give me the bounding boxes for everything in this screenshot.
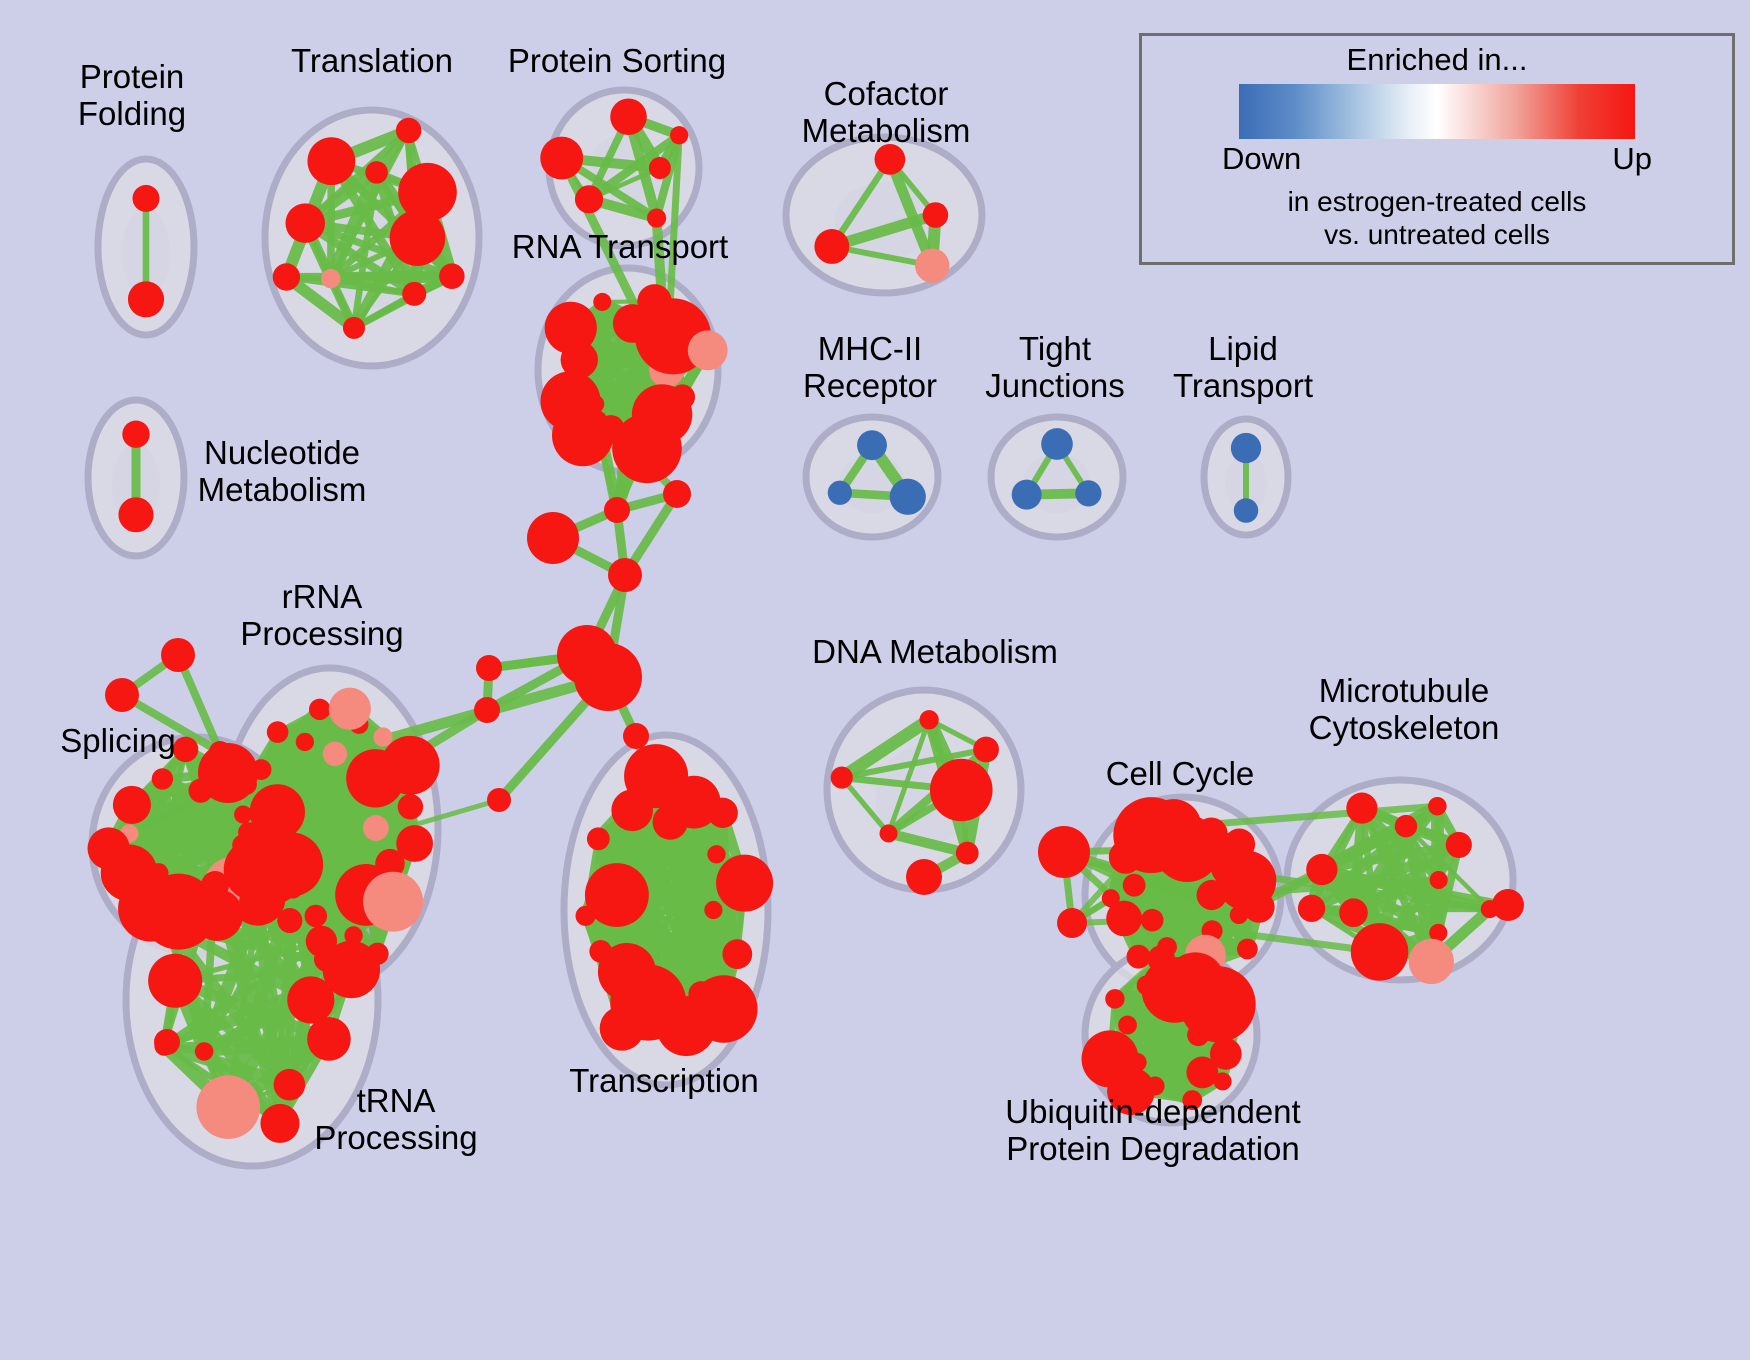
network-node[interactable]	[132, 185, 159, 212]
network-node[interactable]	[1012, 480, 1042, 510]
network-node[interactable]	[589, 940, 612, 963]
legend-caption-line1: in estrogen-treated cells	[1222, 185, 1652, 218]
network-node[interactable]	[637, 284, 671, 318]
network-node[interactable]	[105, 678, 139, 712]
network-node[interactable]	[1234, 498, 1258, 522]
cluster-label-nucleotide-metabolism: Nucleotide Metabolism	[198, 434, 367, 508]
network-node[interactable]	[608, 558, 642, 592]
cluster-label-lipid-transport: Lipid Transport	[1173, 330, 1313, 404]
network-node[interactable]	[1351, 923, 1409, 981]
network-node[interactable]	[267, 721, 289, 743]
network-node[interactable]	[1395, 815, 1417, 837]
network-node[interactable]	[309, 699, 330, 720]
network-node[interactable]	[196, 1075, 260, 1139]
network-node[interactable]	[1346, 792, 1377, 823]
network-node[interactable]	[173, 737, 199, 763]
cluster-label-protein-folding: Protein Folding	[78, 58, 186, 132]
network-node[interactable]	[402, 282, 426, 306]
network-node[interactable]	[323, 742, 347, 766]
network-node[interactable]	[234, 805, 252, 823]
network-node[interactable]	[113, 786, 151, 824]
network-node[interactable]	[1038, 826, 1090, 878]
legend-title: Enriched in...	[1222, 42, 1652, 78]
network-node[interactable]	[343, 317, 365, 339]
network-node[interactable]	[814, 229, 849, 264]
network-node[interactable]	[576, 906, 596, 926]
network-node[interactable]	[1306, 854, 1337, 885]
network-node[interactable]	[274, 1069, 306, 1101]
network-node[interactable]	[201, 871, 229, 899]
network-node[interactable]	[260, 1104, 299, 1143]
network-node[interactable]	[1228, 1009, 1247, 1028]
network-node[interactable]	[1122, 816, 1147, 841]
cluster-label-splicing: Splicing	[60, 722, 176, 759]
network-node[interactable]	[396, 118, 421, 143]
network-node[interactable]	[1102, 889, 1120, 907]
network-node[interactable]	[307, 137, 355, 185]
network-node[interactable]	[857, 430, 887, 460]
network-node[interactable]	[329, 688, 371, 730]
network-node[interactable]	[707, 845, 725, 863]
enrichment-map-figure: Protein FoldingTranslationProtein Sortin…	[0, 0, 1750, 1360]
cluster-label-microtubule-cytoskeleton: Microtubule Cytoskeleton	[1309, 672, 1500, 746]
network-node[interactable]	[152, 768, 173, 789]
network-node[interactable]	[642, 783, 666, 807]
network-node[interactable]	[154, 1029, 180, 1055]
network-node[interactable]	[604, 497, 630, 523]
network-node[interactable]	[398, 794, 423, 819]
cluster-label-tight-junctions: Tight Junctions	[985, 330, 1124, 404]
network-node[interactable]	[439, 263, 465, 289]
network-node[interactable]	[321, 269, 341, 289]
cluster-label-rna-transport: RNA Transport	[512, 228, 728, 265]
network-node[interactable]	[88, 827, 130, 869]
network-node[interactable]	[1231, 433, 1261, 463]
network-node[interactable]	[930, 759, 993, 822]
network-node[interactable]	[396, 825, 433, 862]
network-node[interactable]	[1430, 871, 1448, 889]
network-node[interactable]	[307, 1017, 351, 1061]
cluster-label-trna-processing: tRNA Processing	[314, 1082, 477, 1156]
network-node[interactable]	[1075, 480, 1101, 506]
network-node[interactable]	[688, 330, 728, 370]
cluster-label-rrna-processing: rRNA Processing	[240, 578, 403, 652]
network-node[interactable]	[150, 907, 186, 943]
network-node[interactable]	[476, 655, 502, 681]
network-node[interactable]	[649, 157, 671, 179]
network-node[interactable]	[670, 126, 688, 144]
network-node[interactable]	[1339, 898, 1368, 927]
network-node[interactable]	[670, 384, 695, 409]
network-node[interactable]	[283, 879, 302, 898]
network-node[interactable]	[610, 98, 647, 135]
network-node[interactable]	[305, 905, 328, 928]
network-node[interactable]	[1243, 891, 1274, 922]
legend-box: Enriched in... Down Up in estrogen-treat…	[1139, 33, 1735, 265]
network-node[interactable]	[708, 798, 738, 828]
network-node[interactable]	[1492, 889, 1524, 921]
network-node[interactable]	[398, 163, 457, 222]
network-node[interactable]	[545, 302, 597, 354]
network-node[interactable]	[1146, 799, 1202, 855]
legend-color-bar	[1239, 84, 1635, 139]
legend-caption-line2: vs. untreated cells	[1222, 218, 1652, 251]
cluster-label-translation: Translation	[291, 42, 453, 79]
network-node[interactable]	[647, 209, 666, 228]
network-node[interactable]	[906, 859, 942, 895]
network-node[interactable]	[1127, 945, 1151, 969]
network-node[interactable]	[1141, 909, 1164, 932]
network-node[interactable]	[128, 281, 164, 317]
network-node[interactable]	[323, 941, 380, 998]
network-node[interactable]	[365, 161, 388, 184]
network-node[interactable]	[593, 293, 611, 311]
network-node[interactable]	[956, 842, 979, 865]
network-node[interactable]	[1214, 1072, 1232, 1090]
network-node[interactable]	[612, 413, 682, 483]
network-node[interactable]	[1428, 797, 1447, 816]
cluster-label-ubiquitin-dependent-protein-degradation: Ubiquitin-dependent Protein Degradation	[1005, 1093, 1300, 1167]
legend-low-label: Down	[1222, 141, 1301, 177]
network-node[interactable]	[828, 481, 852, 505]
network-node[interactable]	[285, 203, 325, 243]
network-node[interactable]	[575, 185, 603, 213]
network-node[interactable]	[923, 202, 949, 228]
network-node[interactable]	[1105, 989, 1124, 1008]
network-node[interactable]	[1118, 1016, 1137, 1035]
network-node[interactable]	[296, 733, 314, 751]
cluster-label-mhc-ii-receptor: MHC-II Receptor	[803, 330, 937, 404]
network-node[interactable]	[1223, 829, 1255, 861]
network-node[interactable]	[363, 815, 389, 841]
network-node[interactable]	[600, 1006, 645, 1051]
network-node[interactable]	[574, 643, 642, 711]
network-node[interactable]	[474, 697, 500, 723]
network-node[interactable]	[1446, 832, 1472, 858]
network-node[interactable]	[831, 766, 853, 788]
network-node[interactable]	[540, 137, 583, 180]
network-node[interactable]	[1210, 1038, 1242, 1070]
legend-high-label: Up	[1612, 141, 1652, 177]
network-node[interactable]	[148, 954, 202, 1008]
network-node[interactable]	[209, 741, 231, 763]
network-node[interactable]	[381, 736, 440, 795]
network-node[interactable]	[1147, 945, 1175, 973]
cluster-label-dna-metabolism: DNA Metabolism	[812, 633, 1058, 670]
network-node[interactable]	[552, 405, 613, 466]
network-node[interactable]	[635, 752, 657, 774]
network-node[interactable]	[487, 788, 511, 812]
network-node[interactable]	[623, 723, 649, 749]
network-node[interactable]	[690, 975, 757, 1042]
network-node[interactable]	[273, 263, 300, 290]
network-node[interactable]	[1041, 428, 1073, 460]
network-node[interactable]	[239, 882, 278, 921]
network-node[interactable]	[663, 480, 691, 508]
network-node[interactable]	[919, 710, 938, 729]
cluster-label-cofactor-metabolism: Cofactor Metabolism	[802, 75, 971, 149]
network-node[interactable]	[195, 1042, 214, 1061]
network-node[interactable]	[1057, 908, 1087, 938]
network-node[interactable]	[716, 855, 773, 912]
network-node[interactable]	[1109, 840, 1142, 873]
network-node[interactable]	[161, 638, 195, 672]
network-node[interactable]	[704, 901, 722, 919]
cluster-label-protein-sorting: Protein Sorting	[508, 42, 726, 79]
network-node[interactable]	[122, 421, 149, 448]
network-node[interactable]	[373, 727, 392, 746]
network-node[interactable]	[118, 497, 153, 532]
network-node[interactable]	[880, 824, 898, 842]
network-node[interactable]	[890, 479, 926, 515]
network-edge	[286, 276, 451, 277]
network-node[interactable]	[264, 817, 282, 835]
network-node[interactable]	[1237, 939, 1258, 960]
network-node[interactable]	[915, 248, 949, 282]
network-node[interactable]	[1409, 939, 1454, 984]
network-node[interactable]	[722, 939, 752, 969]
network-node[interactable]	[973, 737, 999, 763]
network-node[interactable]	[363, 872, 423, 932]
cluster-label-cell-cycle: Cell Cycle	[1106, 755, 1255, 792]
network-node[interactable]	[1123, 874, 1146, 897]
network-node[interactable]	[587, 827, 610, 850]
network-node[interactable]	[1298, 895, 1325, 922]
network-node[interactable]	[1137, 975, 1157, 995]
cluster-label-transcription: Transcription	[569, 1062, 759, 1099]
network-node[interactable]	[527, 512, 579, 564]
